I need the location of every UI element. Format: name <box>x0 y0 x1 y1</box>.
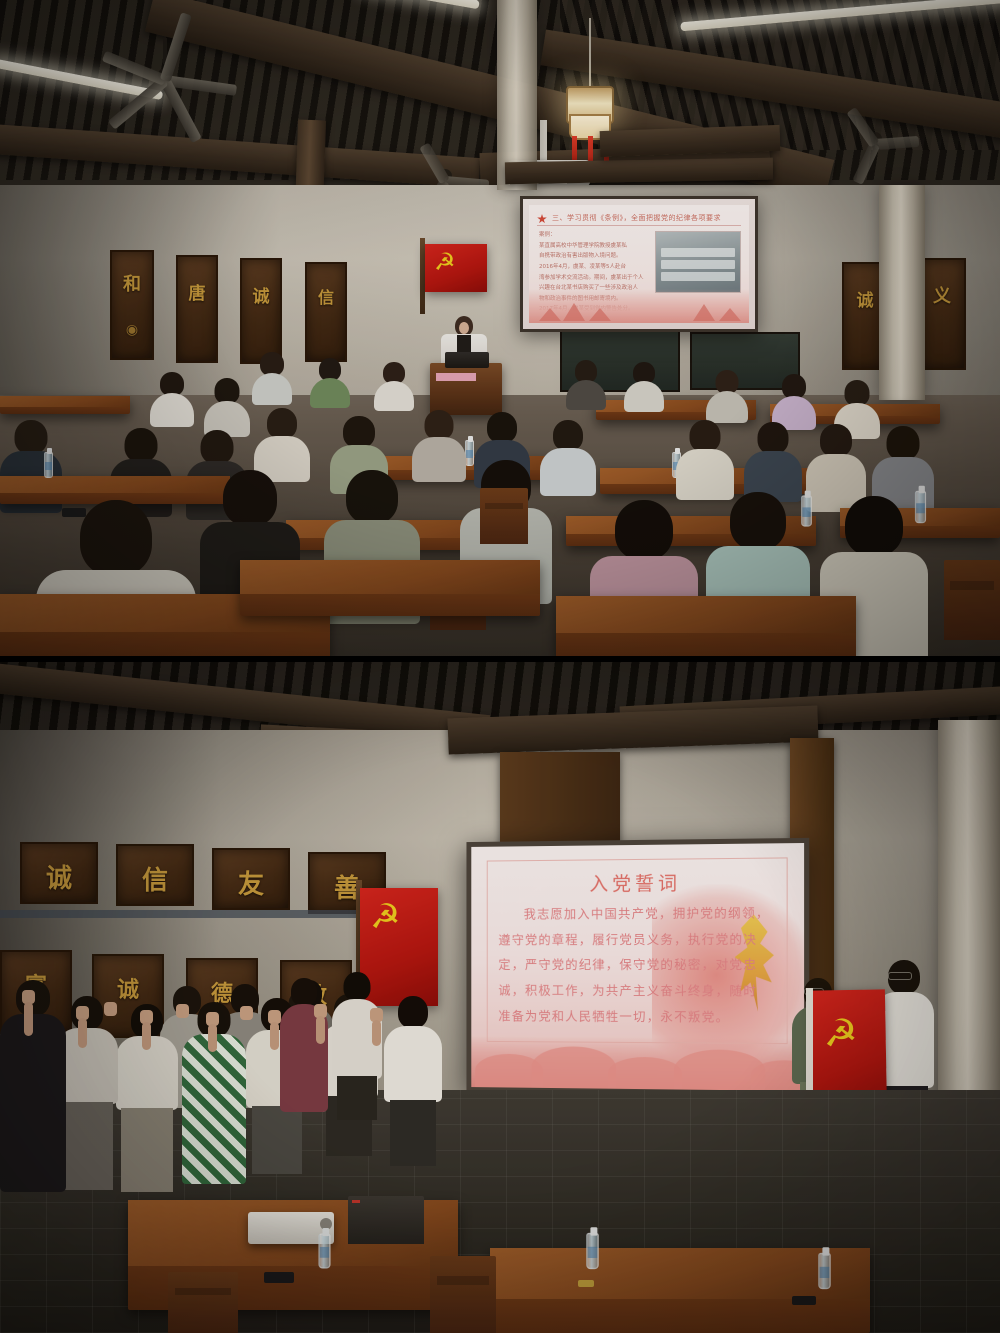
oath-line: 我志愿加入中国共产党，拥护党的纲领， <box>498 900 779 927</box>
raised-arm <box>372 1020 381 1046</box>
water-bottle <box>818 1253 831 1289</box>
oath-person <box>384 996 442 1168</box>
audience-person <box>252 352 292 402</box>
wall-plaque: 唐 <box>176 255 218 363</box>
wall-plaque: 诚 <box>240 258 282 364</box>
ceiling-fan-icon <box>90 60 240 90</box>
audience-person <box>624 362 664 410</box>
equipment-table <box>490 1248 870 1333</box>
oath-line: 定，严守党的纪律，保守党的秘密，对党忠 <box>498 952 779 978</box>
ceiling-fan-icon <box>830 128 920 150</box>
photo-composite: 和 ◉ 唐 诚 信 诚 义 <box>0 0 1000 1333</box>
audience-person <box>204 378 250 434</box>
oath-person <box>280 978 328 1114</box>
raised-arm <box>316 1016 325 1044</box>
projector-mount <box>540 120 547 165</box>
slide-heading-row: 三、学习贯彻《条例》，全面把握党的纪律各项要求 <box>537 213 741 226</box>
slide-photo <box>655 231 741 293</box>
slide-line: 案例： <box>539 231 657 241</box>
water-bottle <box>586 1233 599 1269</box>
podium-laptop-icon[interactable] <box>445 352 489 368</box>
stone-column <box>879 185 925 400</box>
hammer-sickle-icon: ☭ <box>823 1014 858 1053</box>
panel-divider <box>0 656 1000 662</box>
wall-plaque: 和 ◉ <box>110 250 154 360</box>
oath-line: 诚，积极工作，为共产主义奋斗终身，随时 <box>498 978 779 1004</box>
phone-on-table <box>792 1296 816 1305</box>
wall-plaque: 义 <box>918 258 966 370</box>
slide-line: 2016年4月，虞某、凌某等5人赴台 <box>539 263 657 273</box>
audience-person <box>706 370 748 420</box>
phone-on-table <box>264 1272 294 1283</box>
oath-line: 准备为党和人民牺牲一切，永不叛党。 <box>498 1003 779 1030</box>
slide-top: 三、学习贯彻《条例》，全面把握党的纪律各项要求 案例： 某直属高校中华管理学院教… <box>529 205 749 323</box>
party-flag-top: ☭ <box>425 244 487 292</box>
raised-fist <box>176 1004 189 1018</box>
wall-wood-panel <box>500 752 620 852</box>
desk <box>240 560 540 616</box>
desk <box>0 396 130 414</box>
audience-person <box>676 420 734 498</box>
stone-column <box>938 720 1000 1120</box>
keys-on-table <box>578 1280 594 1287</box>
slide-footer-decoration <box>529 289 749 323</box>
slide-line: 自携带政治有害出版物入境问题。 <box>539 252 657 262</box>
slide-line: 某直属高校中华管理学院教授虞某私 <box>539 242 657 252</box>
chair-back <box>480 488 528 544</box>
chair-back <box>168 1272 238 1333</box>
raised-arm <box>208 1024 217 1052</box>
desk <box>556 596 856 658</box>
laptop-icon[interactable] <box>348 1196 424 1244</box>
raised-arm <box>142 1022 151 1050</box>
photo-panel-top: 和 ◉ 唐 诚 信 诚 义 <box>0 0 1000 658</box>
projection-screen-top[interactable]: 三、学习贯彻《条例》，全面把握党的纪律各项要求 案例： 某直属高校中华管理学院教… <box>520 196 758 332</box>
water-bottle <box>318 1233 330 1268</box>
chair-back <box>430 1256 496 1333</box>
wall-plaque-upper: 诚 <box>20 842 98 904</box>
slide-heading-text: 三、学习贯彻《条例》，全面把握党的纪律各项要求 <box>552 213 721 223</box>
slide-footer-decoration <box>471 1036 804 1091</box>
oath-person <box>0 980 66 1196</box>
hammer-sickle-icon: ☭ <box>370 900 400 934</box>
raised-arm <box>24 1002 33 1036</box>
glasses-icon <box>888 972 912 980</box>
raised-fist <box>104 1002 117 1016</box>
audience-person <box>566 360 606 408</box>
checkered-dress <box>182 1034 246 1184</box>
projection-screen-bottom[interactable]: 入党誓词 我志愿加入中国共产党，拥护党的纲领， 遵守党的章程，履行党员义务，执行… <box>466 838 809 1096</box>
audience-person <box>150 372 194 424</box>
oath-line: 遵守党的章程，履行党员义务，执行党的决 <box>498 926 779 952</box>
raised-arm <box>270 1022 279 1050</box>
ceiling-fan-icon <box>400 165 490 187</box>
oath-text: 我志愿加入中国共产党，拥护党的纲领， 遵守党的章程，履行党员义务，执行党的决 定… <box>498 900 779 1030</box>
raised-arm <box>78 1018 87 1048</box>
audience-person <box>772 374 816 428</box>
wall-plaque-upper: 友 <box>212 848 290 910</box>
party-emblem-star-icon <box>537 214 547 224</box>
hammer-sickle-icon: ☭ <box>434 250 456 274</box>
slide-bottom: 入党誓词 我志愿加入中国共产党，拥护党的纲领， 遵守党的章程，履行党员义务，执行… <box>471 843 804 1091</box>
audience-person <box>744 422 802 500</box>
audience-person <box>374 362 414 408</box>
water-bottle <box>44 452 53 478</box>
photo-panel-bottom: 诚 信 友 善 富 诚 德 敬 入党誓词 <box>0 660 1000 1333</box>
wall-plaque: 信 <box>305 262 347 362</box>
audience-person <box>412 410 466 480</box>
slide-line: 湾参加学术交流活动。期间，虞某出于个人 <box>539 274 657 284</box>
raised-fist <box>240 1006 253 1020</box>
oath-title: 入党誓词 <box>471 867 804 897</box>
screen-header-beam <box>505 158 773 185</box>
audience-person <box>310 358 350 406</box>
chair-back <box>944 560 1000 640</box>
wall-plaque-upper: 信 <box>116 844 194 906</box>
podium <box>430 363 502 415</box>
